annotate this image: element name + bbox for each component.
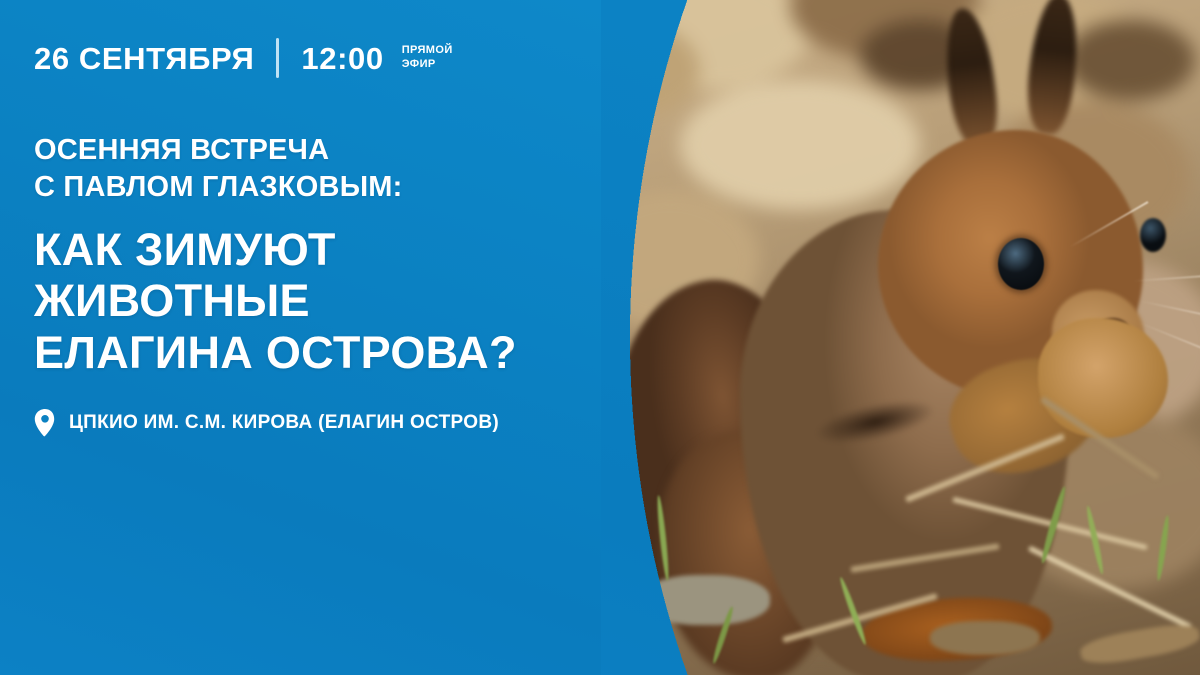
live-badge-line2: ЭФИР — [402, 58, 453, 72]
meta-divider — [276, 38, 279, 78]
event-banner: 26 СЕНТЯБРЯ 12:00 ПРЯМОЙ ЭФИР ОСЕННЯЯ ВС… — [0, 0, 1200, 675]
live-badge: ПРЯМОЙ ЭФИР — [402, 44, 453, 72]
venue-row: ЦПКИО ИМ. С.М. КИРОВА (ЕЛАГИН ОСТРОВ) — [34, 409, 499, 437]
banner-content: 26 СЕНТЯБРЯ 12:00 ПРЯМОЙ ЭФИР ОСЕННЯЯ ВС… — [34, 0, 594, 675]
event-headline: КАК ЗИМУЮТ ЖИВОТНЫЕ ЕЛАГИНА ОСТРОВА? — [34, 224, 517, 378]
event-time: 12:00 — [301, 43, 383, 74]
live-badge-line1: ПРЯМОЙ — [402, 44, 453, 58]
headline-line-2: ЖИВОТНЫЕ — [34, 275, 517, 326]
subtitle-line-1: ОСЕННЯЯ ВСТРЕЧА — [34, 132, 403, 169]
event-date: 26 СЕНТЯБРЯ — [34, 43, 254, 74]
event-meta-row: 26 СЕНТЯБРЯ 12:00 ПРЯМОЙ ЭФИР — [34, 38, 453, 78]
headline-line-3: ЕЛАГИНА ОСТРОВА? — [34, 327, 517, 378]
venue-name: ЦПКИО ИМ. С.М. КИРОВА (ЕЛАГИН ОСТРОВ) — [69, 412, 499, 434]
subtitle-line-2: С ПАВЛОМ ГЛАЗКОВЫМ: — [34, 169, 403, 206]
map-pin-icon — [34, 409, 56, 437]
headline-line-1: КАК ЗИМУЮТ — [34, 224, 517, 275]
event-subtitle: ОСЕННЯЯ ВСТРЕЧА С ПАВЛОМ ГЛАЗКОВЫМ: — [34, 132, 403, 205]
